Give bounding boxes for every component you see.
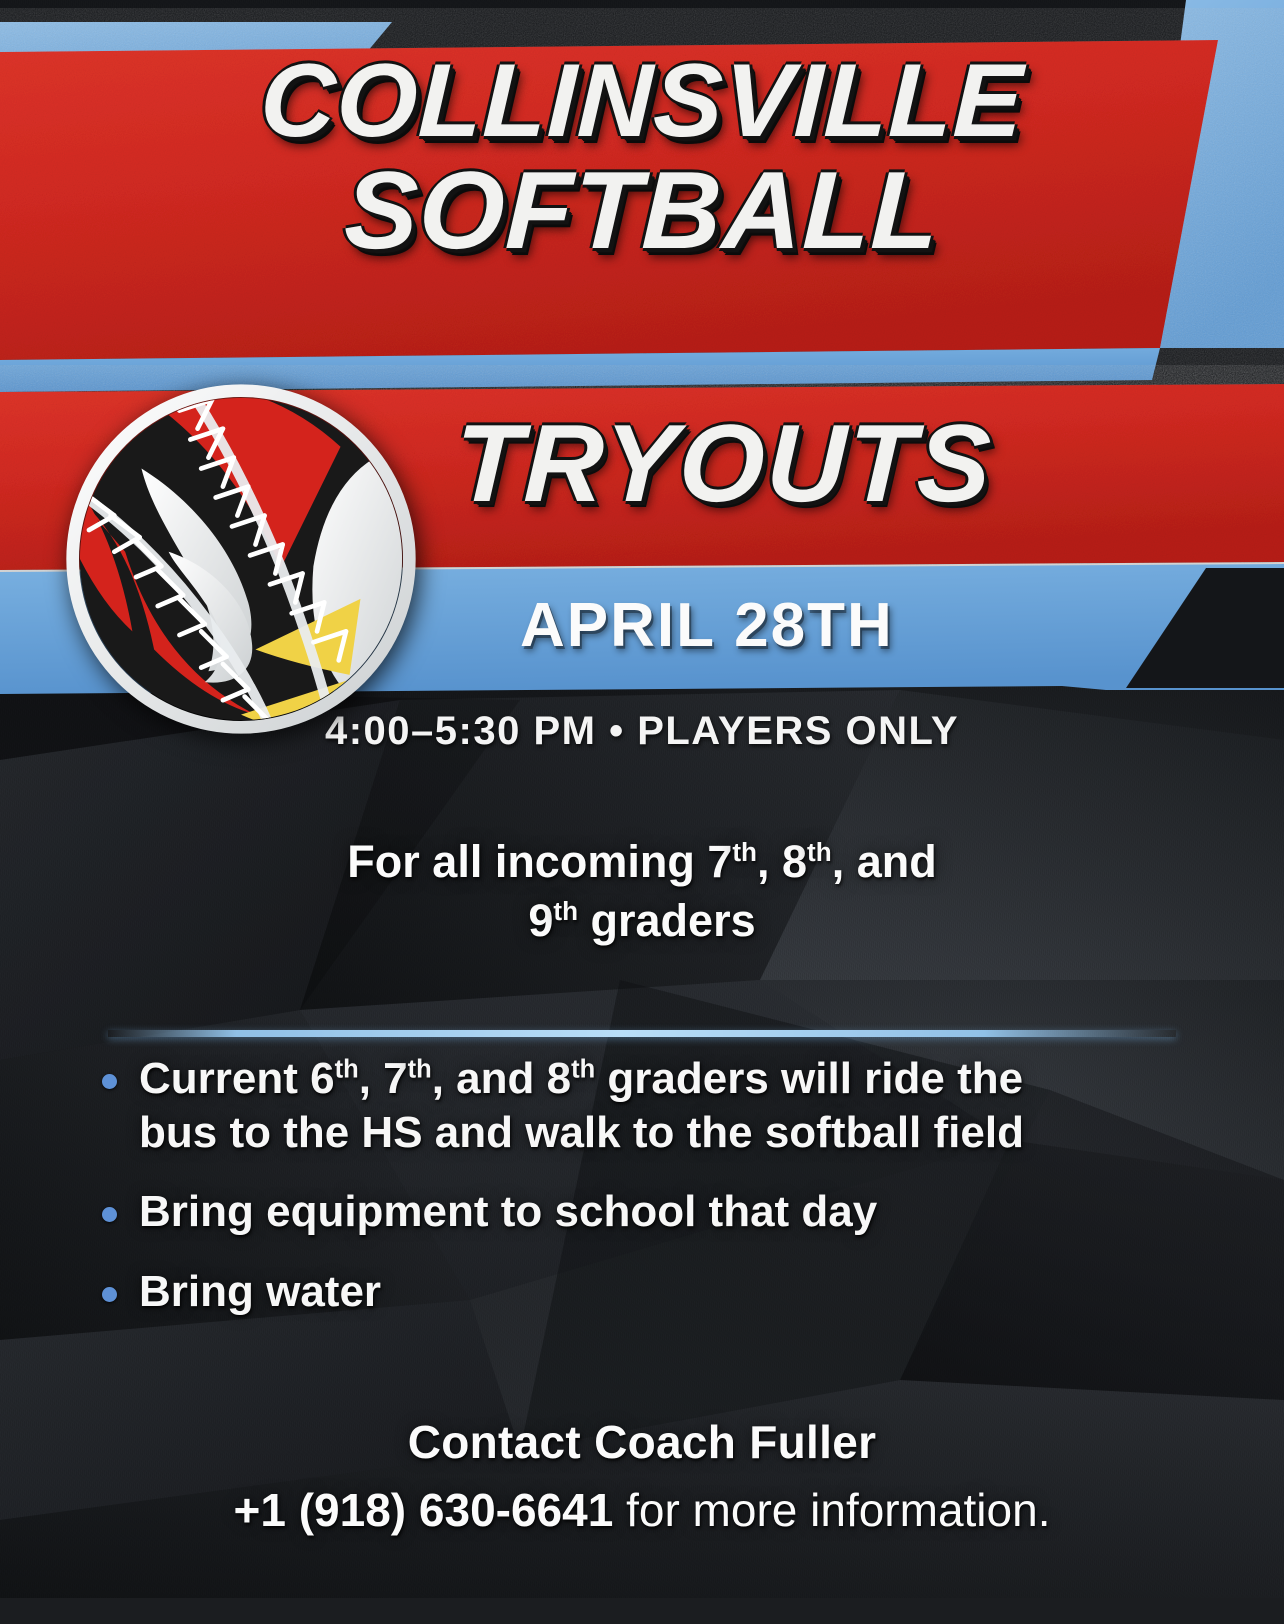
contact-phone-tail: for more information. bbox=[613, 1484, 1050, 1536]
title-line-softball: SOFTBALL bbox=[0, 158, 1284, 264]
list-item: Bring equipment to school that day bbox=[96, 1185, 1096, 1239]
bullet1-s3: th bbox=[571, 1055, 595, 1083]
eligibility-sup-1: th bbox=[732, 837, 757, 867]
list-item: Bring water bbox=[96, 1265, 1096, 1319]
list-item-text: Bring water bbox=[139, 1265, 381, 1319]
eligibility-mid: , 8 bbox=[757, 836, 807, 887]
bullet1-s1: th bbox=[335, 1055, 359, 1083]
eligibility-prefix: For all incoming 7 bbox=[347, 836, 732, 887]
eligibility-sup-2: th bbox=[807, 837, 832, 867]
eligibility-suffix: , and bbox=[832, 836, 937, 887]
contact-block: Contact Coach Fuller +1 (918) 630-6641 f… bbox=[0, 1415, 1284, 1537]
collinsville-cardinal-softball-logo bbox=[60, 378, 422, 740]
eligibility-line-1: For all incoming 7th, 8th, and bbox=[0, 832, 1284, 891]
bottom-strip bbox=[0, 1598, 1284, 1624]
eligibility-text: For all incoming 7th, 8th, and 9th grade… bbox=[0, 832, 1284, 951]
bullet-dot-icon bbox=[102, 1074, 117, 1089]
eligibility-graders-word: graders bbox=[578, 895, 756, 946]
bullet1-p1: Current 6 bbox=[139, 1054, 335, 1103]
headline-block: COLLINSVILLE SOFTBALL bbox=[0, 52, 1284, 263]
event-title-tryouts: TRYOUTS bbox=[453, 400, 995, 527]
contact-phone-number: +1 (918) 630-6641 bbox=[234, 1484, 614, 1536]
bullet-dot-icon bbox=[102, 1287, 117, 1302]
flyer-root: COLLINSVILLE SOFTBALL TRYOUTS APRIL 28TH… bbox=[0, 0, 1284, 1624]
instructions-list: Current 6th, 7th, and 8th graders will r… bbox=[96, 1052, 1096, 1345]
eligibility-sup-3: th bbox=[553, 896, 578, 926]
section-divider bbox=[108, 1030, 1176, 1037]
list-item-text: Current 6th, 7th, and 8th graders will r… bbox=[139, 1052, 1096, 1159]
title-line-collinsville: COLLINSVILLE bbox=[0, 52, 1284, 152]
eligibility-line-2: 9th graders bbox=[0, 891, 1284, 950]
bullet1-p3: , and 8 bbox=[432, 1054, 571, 1103]
eligibility-grade-9: 9 bbox=[528, 895, 553, 946]
list-item: Current 6th, 7th, and 8th graders will r… bbox=[96, 1052, 1096, 1159]
bullet-dot-icon bbox=[102, 1207, 117, 1222]
bullet1-s2: th bbox=[408, 1055, 432, 1083]
bullet1-p2: , 7 bbox=[359, 1054, 408, 1103]
list-item-text: Bring equipment to school that day bbox=[139, 1185, 877, 1239]
contact-coach-name: Contact Coach Fuller bbox=[0, 1415, 1284, 1469]
contact-phone-line: +1 (918) 630-6641 for more information. bbox=[0, 1483, 1284, 1537]
event-date: APRIL 28TH bbox=[520, 590, 894, 661]
